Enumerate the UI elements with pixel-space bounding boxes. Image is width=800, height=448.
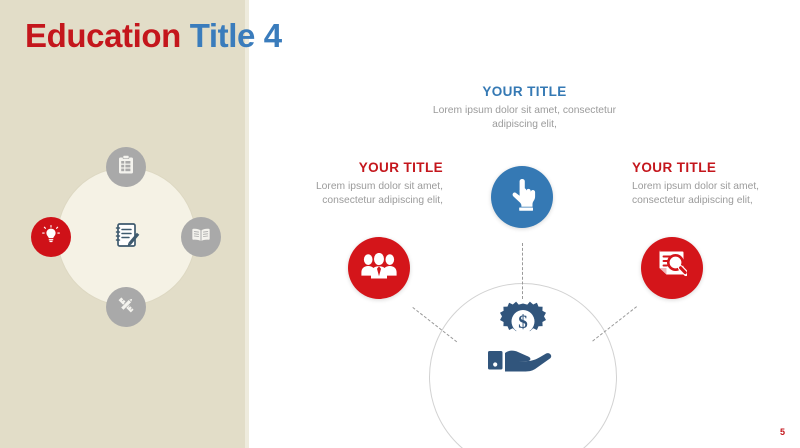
node-left-body: Lorem ipsum dolor sit amet, consectetur … xyxy=(263,180,443,208)
page-title: Education Title 4 xyxy=(25,17,282,55)
node-left-people-group[interactable] xyxy=(348,237,410,299)
wheel-node-lightbulb[interactable] xyxy=(31,217,71,257)
node-top-title: YOUR TITLE xyxy=(432,84,617,99)
text-block-left: YOUR TITLE Lorem ipsum dolor sit amet, c… xyxy=(263,160,443,208)
wheel-node-book[interactable] xyxy=(181,217,221,257)
node-left-title: YOUR TITLE xyxy=(263,160,443,175)
node-right-body: Lorem ipsum dolor sit amet, consectetur … xyxy=(632,180,800,208)
wheel-node-ruler-pencil[interactable] xyxy=(106,287,146,327)
hand-tap-icon xyxy=(507,179,537,216)
main-diagram: $ xyxy=(249,0,800,448)
people-group-icon xyxy=(361,253,397,284)
slide-canvas: Education Title 4 xyxy=(0,0,800,448)
page-title-main: Education xyxy=(25,17,181,54)
document-search-icon xyxy=(657,250,687,287)
connector-top xyxy=(522,243,523,299)
notepad-pencil-icon xyxy=(107,216,147,256)
hand-gear-dollar-icon: $ xyxy=(474,297,572,379)
page-number: 5 xyxy=(780,427,785,437)
education-wheel xyxy=(57,167,196,306)
node-right-document-search[interactable] xyxy=(641,237,703,299)
node-top-body: Lorem ipsum dolor sit amet, consectetur … xyxy=(432,104,617,132)
text-block-top: YOUR TITLE Lorem ipsum dolor sit amet, c… xyxy=(432,84,617,132)
svg-text:$: $ xyxy=(518,312,528,333)
page-title-sub: Title 4 xyxy=(190,17,282,54)
node-right-title: YOUR TITLE xyxy=(632,160,800,175)
ruler-pencil-cross-icon xyxy=(115,294,137,321)
text-block-right: YOUR TITLE Lorem ipsum dolor sit amet, c… xyxy=(632,160,800,208)
lightbulb-icon xyxy=(41,225,61,250)
wheel-node-clipboard[interactable] xyxy=(106,147,146,187)
clipboard-icon xyxy=(117,155,135,180)
node-top-hand-tap[interactable] xyxy=(491,166,553,228)
open-book-icon xyxy=(190,226,212,249)
